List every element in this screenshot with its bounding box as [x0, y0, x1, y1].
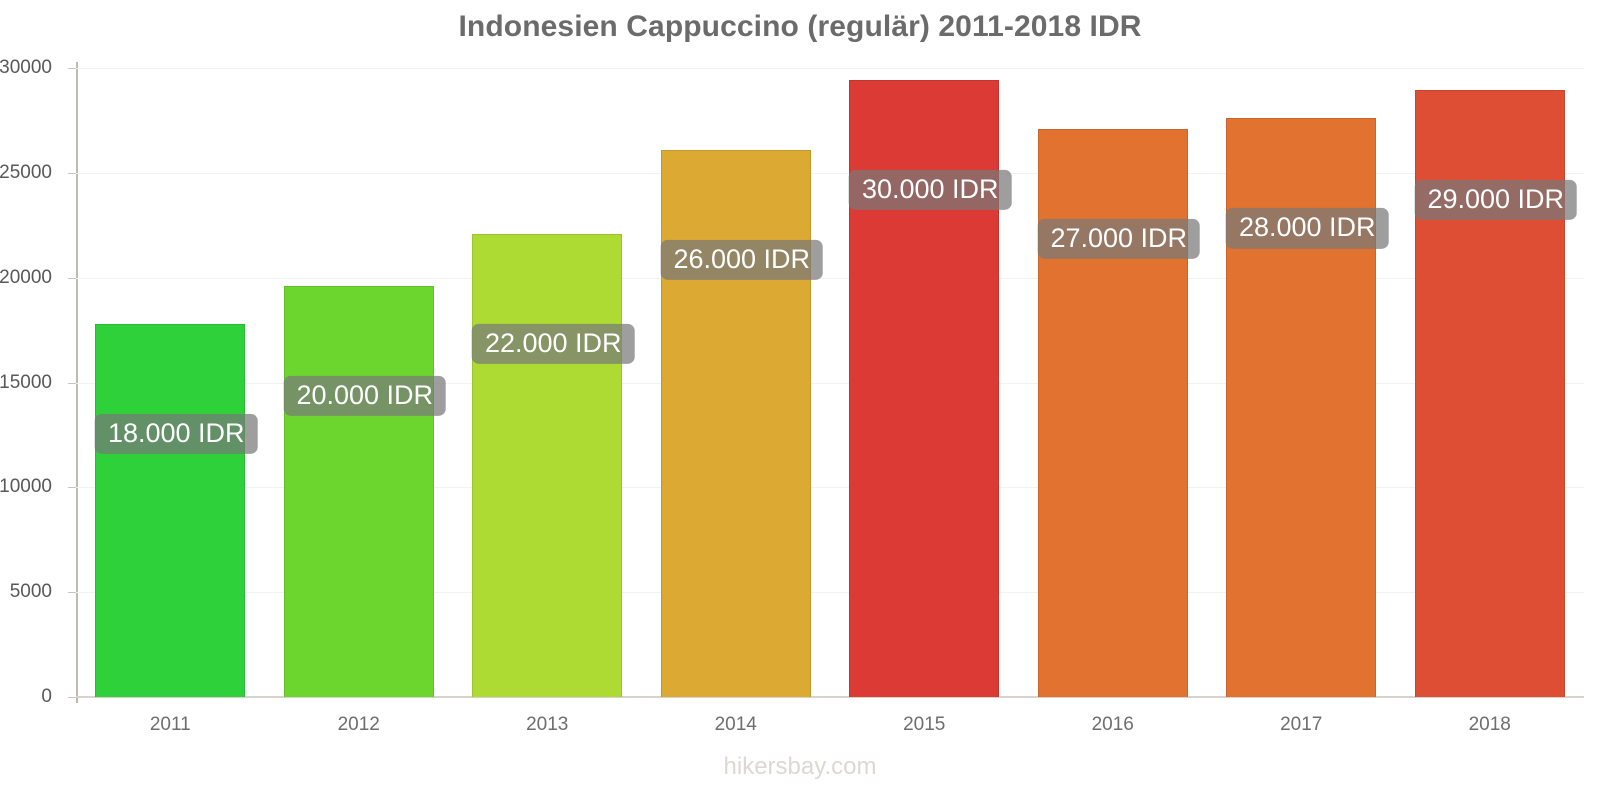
y-tick-label: 20000: [0, 267, 52, 289]
bar-value-label: 27.000 IDR: [1037, 219, 1200, 259]
chart-page: Indonesien Cappuccino (regulär) 2011-201…: [0, 0, 1600, 800]
y-tick-label: 15000: [0, 372, 52, 394]
y-tick-label: 10000: [0, 476, 52, 498]
bar-value-label: 22.000 IDR: [472, 323, 635, 363]
y-tick-mark: [68, 487, 76, 488]
y-tick-mark: [68, 173, 76, 174]
x-tick-label: 2015: [903, 714, 945, 736]
x-tick-label: 2013: [526, 714, 568, 736]
bar-value-label: 28.000 IDR: [1226, 208, 1389, 248]
y-tick-label: 0: [0, 686, 52, 708]
watermark: hikersbay.com: [0, 753, 1600, 781]
bar-value-label: 26.000 IDR: [660, 240, 823, 280]
y-tick-mark: [68, 278, 76, 279]
y-tick-label: 30000: [0, 57, 52, 79]
y-tick-mark: [68, 697, 76, 698]
bar-value-label: 18.000 IDR: [95, 414, 258, 454]
bar[interactable]: [1226, 118, 1376, 697]
gridline: [76, 68, 1584, 69]
x-tick-label: 2016: [1092, 714, 1134, 736]
y-tick-label: 25000: [0, 162, 52, 184]
bar[interactable]: [284, 286, 434, 697]
y-tick-mark: [68, 383, 76, 384]
y-tick-mark: [68, 592, 76, 593]
x-tick-label: 2011: [150, 714, 191, 736]
bar-value-label: 30.000 IDR: [849, 169, 1012, 209]
x-tick-label: 2017: [1280, 714, 1322, 736]
x-tick-label: 2018: [1469, 714, 1511, 736]
x-tick-label: 2012: [338, 714, 380, 736]
bar[interactable]: [95, 324, 245, 697]
page-title: Indonesien Cappuccino (regulär) 2011-201…: [0, 10, 1600, 44]
y-tick-label: 5000: [0, 581, 52, 603]
x-tick-label: 2014: [715, 714, 757, 736]
bar[interactable]: [1038, 129, 1188, 697]
bar-value-label: 29.000 IDR: [1414, 180, 1577, 220]
bar[interactable]: [472, 234, 622, 697]
bar[interactable]: [661, 150, 811, 697]
plot-area: 050001000015000200002500030000 18.000 ID…: [76, 68, 1584, 697]
y-tick-mark: [68, 68, 76, 69]
bar-value-label: 20.000 IDR: [283, 376, 446, 416]
